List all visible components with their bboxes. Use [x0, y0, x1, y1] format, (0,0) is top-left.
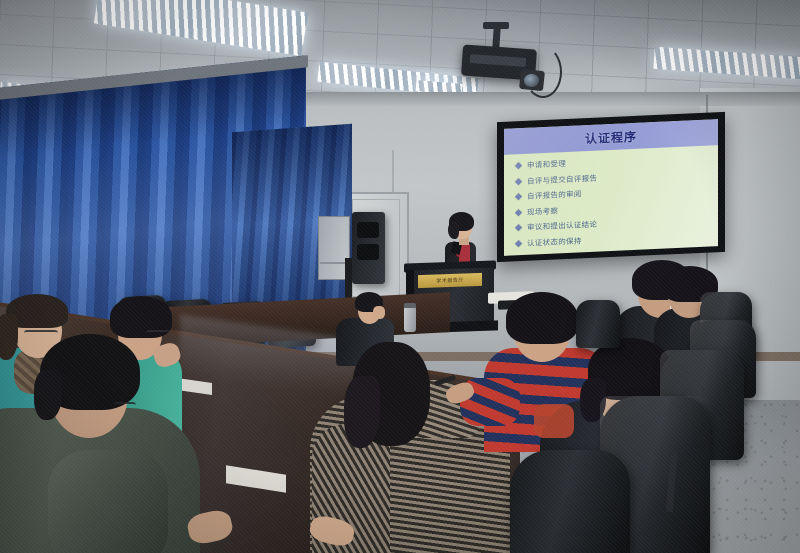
- eyeglasses: [146, 330, 170, 341]
- bullet-diamond-icon: [515, 209, 522, 216]
- slide-bullet-text: 认证状态的保持: [527, 235, 582, 248]
- wall-upper-band: [248, 92, 800, 106]
- inner-collar: [534, 404, 574, 438]
- attendee-face: [373, 306, 385, 319]
- bullet-diamond-icon: [515, 178, 522, 185]
- podium-nameplate: 学术报告厅: [418, 273, 482, 288]
- bullet-diamond-icon: [515, 162, 522, 169]
- eyeglasses: [114, 402, 136, 413]
- slide-bullet-text: 申请和受理: [527, 158, 566, 171]
- thermos-bottle[interactable]: [404, 306, 416, 332]
- slide-body: 申请和受理 自评与提交自评报告 自评报告的审阅 现场考察 审议和提出认证结论 认…: [504, 145, 718, 249]
- slide-title: 认证程序: [585, 127, 637, 146]
- projector-lens: [524, 74, 539, 87]
- attendee-hair: [344, 376, 380, 448]
- conference-room-photo: 认证程序 申请和受理 自评与提交自评报告 自评报告的审阅 现场考察 审议和提出认…: [0, 0, 800, 553]
- bullet-diamond-icon: [515, 240, 522, 247]
- presenter-hair: [448, 222, 459, 239]
- attendee-hair: [34, 370, 62, 420]
- speaker-driver: [357, 222, 379, 238]
- slide-bullet-text: 审议和提出认证结论: [527, 219, 597, 233]
- eyeglasses: [24, 330, 58, 341]
- bullet-diamond-icon: [515, 224, 522, 231]
- slide-bullet-text: 自评报告的审阅: [527, 188, 582, 201]
- bottle-cap: [404, 303, 416, 308]
- jacket-fold: [48, 450, 168, 553]
- projection-screen: 认证程序 申请和受理 自评与提交自评报告 自评报告的审阅 现场考察 审议和提出认…: [504, 119, 718, 256]
- podium-nameplate-text: 学术报告厅: [436, 277, 464, 285]
- chair[interactable]: [576, 300, 620, 348]
- chair[interactable]: [510, 450, 630, 553]
- cabinet-seam: [320, 262, 346, 264]
- speaker-driver: [357, 244, 379, 260]
- bullet-diamond-icon: [515, 193, 522, 200]
- slide-bullet-text: 自评与提交自评报告: [527, 172, 597, 186]
- slide-bullet-text: 现场考察: [527, 205, 558, 217]
- attendee-hair: [506, 292, 578, 344]
